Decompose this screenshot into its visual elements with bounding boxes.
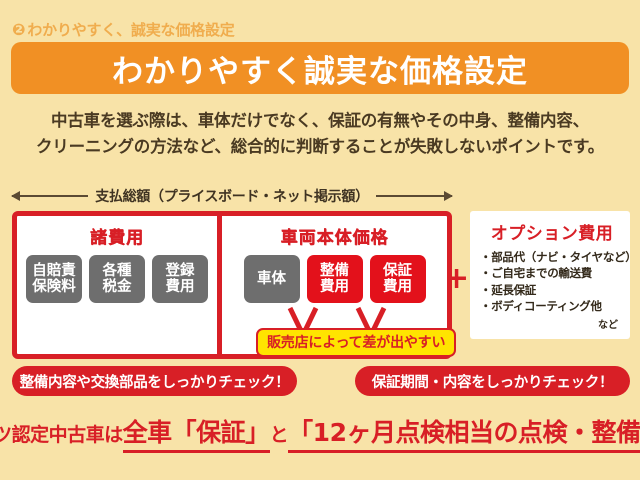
variance-callout: 販売店によって差が出やすい <box>256 328 456 357</box>
bottom-connector: と <box>270 420 289 447</box>
misc-fees-chip-list: 自賠責 保険料 各種 税金 登録 費用 <box>17 255 217 303</box>
lead-line-1: 中古車を選ぶ際は、車体だけでなく、保証の有無やその中身、整備内容、 <box>18 108 622 134</box>
check-pill-maintenance: 整備内容や交換部品をしっかりチェック！ <box>12 366 297 396</box>
chip-registration: 登録 費用 <box>152 255 208 303</box>
chip-taxes: 各種 税金 <box>89 255 145 303</box>
chip-line-2: 費用 <box>383 279 412 295</box>
chip-vehicle-body: 車体 <box>244 255 300 303</box>
check-pill-warranty: 保証期間・内容をしっかりチェック！ <box>355 366 630 396</box>
bottom-prefix: ダイハツ認定中古車は <box>0 420 123 447</box>
chip-maintenance-fee: 整備 費用 <box>307 255 363 303</box>
lead-line-2: クリーニングの方法など、総合的に判断することが失敗しないポイントです。 <box>18 134 622 160</box>
list-item: ・延長保証 <box>480 282 624 298</box>
headline-title: わかりやすく誠実な価格設定 <box>112 46 528 91</box>
option-fees-title: オプション費用 <box>480 219 624 244</box>
arrow-left-icon <box>12 195 88 197</box>
list-item: ・ボディコーティング他 <box>480 298 624 314</box>
bottom-emphasis-warranty: 全車「保証」 <box>123 413 270 453</box>
option-fees-note: など <box>480 316 624 331</box>
infographic-page: ❷ わかりやすく、誠実な価格設定 わかりやすく誠実な価格設定 中古車を選ぶ際は、… <box>0 0 640 480</box>
headline-banner: わかりやすく誠実な価格設定 <box>11 42 629 94</box>
lead-paragraph: 中古車を選ぶ際は、車体だけでなく、保証の有無やその中身、整備内容、 クリーニング… <box>18 108 622 159</box>
chip-line-2: 税金 <box>103 279 132 295</box>
misc-fees-panel: 諸費用 自賠責 保険料 各種 税金 登録 費用 <box>17 216 222 354</box>
total-price-label: 支払総額（プライスボード・ネット掲示額） <box>95 186 369 206</box>
chip-line-1: 保証 <box>383 263 412 279</box>
bottom-emphasis-inspection: 「12ヶ月点検相当の点検・整備」 <box>288 413 640 453</box>
section-kicker-label: わかりやすく、誠実な価格設定 <box>27 19 234 40</box>
total-price-span: 支払総額（プライスボード・ネット掲示額） <box>12 185 452 207</box>
arrow-right-icon <box>376 195 452 197</box>
chip-line-1: 各種 <box>103 263 132 279</box>
chip-line-2: 費用 <box>320 279 349 295</box>
misc-fees-title: 諸費用 <box>17 223 217 248</box>
list-item: ・部品代（ナビ・タイヤなど） <box>480 249 624 265</box>
chip-line-2: 費用 <box>166 279 195 295</box>
vehicle-price-chip-list: 車体 整備 費用 保証 費用 <box>222 255 447 303</box>
chip-line-1: 車体 <box>257 271 286 287</box>
chip-jibaiseki: 自賠責 保険料 <box>26 255 82 303</box>
plus-icon: + <box>444 264 469 294</box>
list-item: ・ご自宅までの輸送費 <box>480 265 624 281</box>
option-fees-panel: オプション費用 ・部品代（ナビ・タイヤなど） ・ご自宅までの輸送費 ・延長保証 … <box>470 211 630 339</box>
chip-line-1: 自賠責 <box>32 263 76 279</box>
chip-line-1: 整備 <box>320 263 349 279</box>
option-fees-list: ・部品代（ナビ・タイヤなど） ・ご自宅までの輸送費 ・延長保証 ・ボディコーティ… <box>480 249 624 314</box>
chip-line-1: 登録 <box>166 263 195 279</box>
chip-warranty-fee: 保証 費用 <box>370 255 426 303</box>
section-kicker: ❷ わかりやすく、誠実な価格設定 <box>12 19 235 40</box>
bottom-statement: ダイハツ認定中古車は 全車「保証」 と 「12ヶ月点検相当の点検・整備」 付き <box>0 413 640 453</box>
vehicle-price-title: 車両本体価格 <box>222 223 447 248</box>
circled-number-two-icon: ❷ <box>12 22 25 38</box>
chip-line-2: 保険料 <box>32 279 76 295</box>
